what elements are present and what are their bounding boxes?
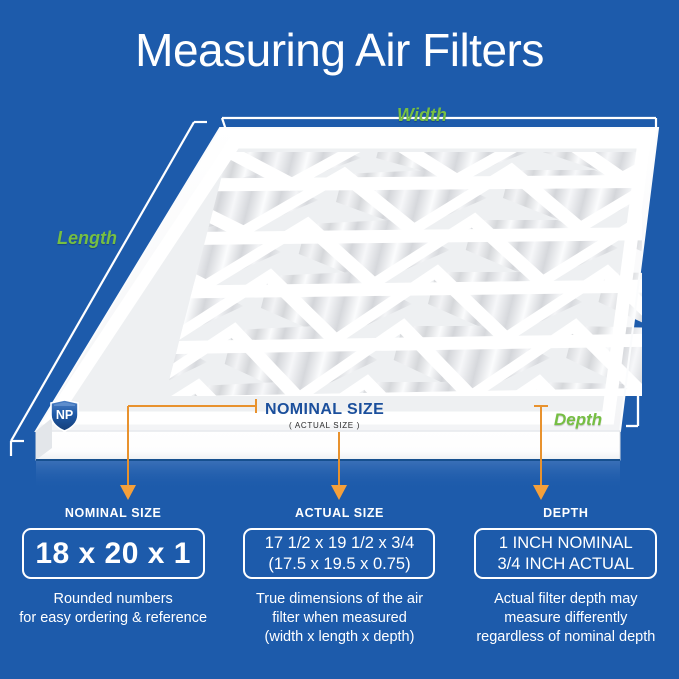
air-filter-illustration xyxy=(0,100,679,500)
card-actual-size-description-line-3: (width x length x depth) xyxy=(232,628,446,647)
length-label: Length xyxy=(57,228,117,249)
page-title: Measuring Air Filters xyxy=(0,22,679,78)
width-label: Width xyxy=(397,105,447,126)
card-depth-description-line-1: Actual filter depth may xyxy=(459,590,673,609)
card-actual-size-title: ACTUAL SIZE xyxy=(232,505,446,521)
card-depth-value-actual: 3/4 INCH ACTUAL xyxy=(498,554,635,575)
card-depth-description-line-3: regardless of nominal depth xyxy=(459,628,673,647)
card-actual-size-value-box: 17 1/2 x 19 1/2 x 3/4 (17.5 x 19.5 x 0.7… xyxy=(243,528,435,579)
brand-shield-logo[interactable]: NP xyxy=(49,399,80,432)
nominal-size-edge-caption: NOMINAL SIZE ( ACTUAL SIZE ) xyxy=(265,401,384,431)
card-depth-title: DEPTH xyxy=(459,505,673,521)
card-depth-value-nominal: 1 INCH NOMINAL xyxy=(499,533,633,554)
card-actual-size-description-line-2: filter when measured xyxy=(232,609,446,628)
card-actual-size-description-line-1: True dimensions of the air xyxy=(232,590,446,609)
nominal-size-edge-caption-main: NOMINAL SIZE xyxy=(265,401,384,419)
card-depth-value-box: 1 INCH NOMINAL 3/4 INCH ACTUAL xyxy=(474,528,657,579)
card-nominal-size-description: Rounded numbers for easy ordering & refe… xyxy=(6,590,220,628)
card-actual-size-description: True dimensions of the air filter when m… xyxy=(232,590,446,647)
info-cards-row: NOMINAL SIZE 18 x 20 x 1 Rounded numbers… xyxy=(0,505,679,679)
card-nominal-size-value: 18 x 20 x 1 xyxy=(35,537,191,571)
card-actual-size: ACTUAL SIZE 17 1/2 x 19 1/2 x 3/4 (17.5 … xyxy=(226,505,452,679)
card-depth-description: Actual filter depth may measure differen… xyxy=(459,590,673,647)
card-nominal-size-description-line-2: for easy ordering & reference xyxy=(6,609,220,628)
card-actual-size-value-fraction: 17 1/2 x 19 1/2 x 3/4 xyxy=(265,533,415,554)
card-nominal-size: NOMINAL SIZE 18 x 20 x 1 Rounded numbers… xyxy=(0,505,226,679)
card-nominal-size-value-box: 18 x 20 x 1 xyxy=(22,528,205,579)
infographic-canvas: Measuring Air Filters xyxy=(0,0,679,679)
depth-label: Depth xyxy=(554,410,602,430)
brand-initials: NP xyxy=(56,408,73,422)
card-nominal-size-description-line-1: Rounded numbers xyxy=(6,590,220,609)
card-nominal-size-title: NOMINAL SIZE xyxy=(6,505,220,521)
card-depth-description-line-2: measure differently xyxy=(459,609,673,628)
card-depth: DEPTH 1 INCH NOMINAL 3/4 INCH ACTUAL Act… xyxy=(453,505,679,679)
card-actual-size-value-decimal: (17.5 x 19.5 x 0.75) xyxy=(268,554,410,575)
nominal-size-edge-caption-sub: ( ACTUAL SIZE ) xyxy=(265,420,384,431)
